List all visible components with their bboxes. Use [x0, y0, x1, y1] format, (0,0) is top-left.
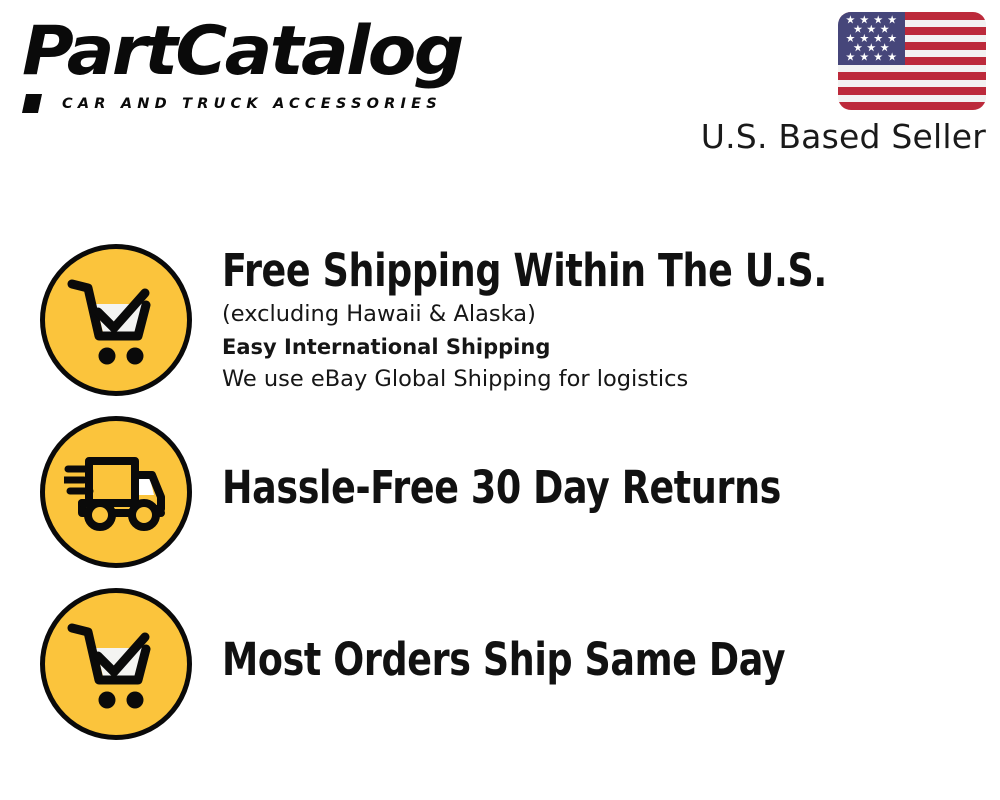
star-icon: [860, 34, 869, 43]
star-icon: [860, 52, 869, 61]
delivery-truck-icon: [40, 416, 192, 568]
star-icon: [880, 25, 889, 34]
feature-subline: (excluding Hawaii & Alaska): [222, 298, 1000, 331]
star-icon: [874, 34, 883, 43]
flag-star-row: [838, 34, 905, 43]
star-icon: [867, 25, 876, 34]
flag-star-row: [838, 15, 905, 24]
feature-heading: Free Shipping Within The U.S.: [222, 244, 922, 298]
shopping-cart-check-icon: [40, 588, 192, 740]
feature-heading: Hassle-Free 30 Day Returns: [222, 461, 922, 515]
star-icon: [853, 25, 862, 34]
star-icon: [888, 15, 897, 24]
brand-tagline: CAR AND TRUCK ACCESSORIES: [62, 96, 442, 112]
star-icon: [874, 15, 883, 24]
star-icon: [846, 15, 855, 24]
star-icon: [888, 34, 897, 43]
flag-star-row: [838, 25, 905, 34]
star-icon: [860, 15, 869, 24]
star-icon: [846, 52, 855, 61]
brand-wordmark: PartCatalog: [22, 16, 511, 88]
star-icon: [867, 43, 876, 52]
star-icon: [888, 52, 897, 61]
feature-row: Hassle-Free 30 Day Returns: [0, 416, 1000, 568]
feature-heading: Most Orders Ship Same Day: [222, 633, 922, 687]
shopping-cart-check-icon: [40, 244, 192, 396]
feature-subline: Easy International Shipping: [222, 331, 1000, 363]
feature-subline: We use eBay Global Shipping for logistic…: [222, 363, 1000, 396]
us-based-seller-label: U.S. Based Seller: [701, 118, 986, 156]
us-flag-icon: [838, 12, 986, 110]
feature-row: Free Shipping Within The U.S. (excluding…: [0, 244, 1000, 396]
feature-text-block: Hassle-Free 30 Day Returns: [222, 416, 1000, 515]
feature-text-block: Free Shipping Within The U.S. (excluding…: [222, 244, 1000, 396]
star-icon: [853, 43, 862, 52]
flag-star-row: [838, 43, 905, 52]
star-icon: [880, 43, 889, 52]
flag-canton: [838, 12, 905, 65]
logo-accent-bar: [22, 94, 42, 113]
star-icon: [874, 52, 883, 61]
feature-row: Most Orders Ship Same Day: [0, 588, 1000, 740]
brand-logo: PartCatalog CAR AND TRUCK ACCESSORIES: [22, 16, 492, 116]
feature-text-block: Most Orders Ship Same Day: [222, 588, 1000, 687]
flag-star-row: [838, 52, 905, 61]
brand-tagline-row: CAR AND TRUCK ACCESSORIES: [24, 94, 484, 113]
star-icon: [846, 34, 855, 43]
